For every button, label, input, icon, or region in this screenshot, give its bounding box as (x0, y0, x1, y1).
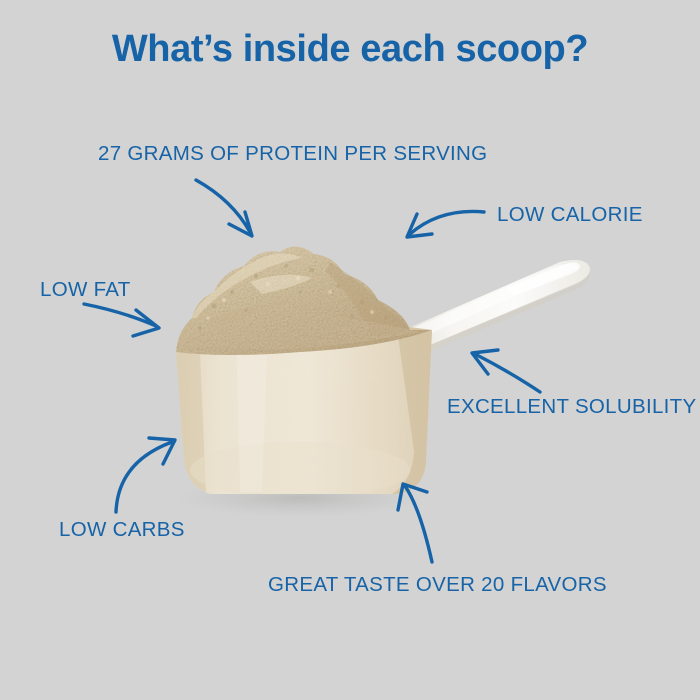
callout-label-low-fat: LOW FAT (40, 278, 131, 302)
callout-label-protein: 27 GRAMS OF PROTEIN PER SERVING (98, 142, 487, 166)
page-title-regular: What’s inside (112, 28, 360, 70)
arrow-excellent-solubility (472, 350, 540, 392)
arrow-great-taste (398, 484, 432, 562)
page-title: What’s inside each scoop? (0, 28, 700, 71)
callout-label-low-calorie: LOW CALORIE (497, 203, 643, 227)
arrow-protein (196, 180, 252, 236)
callout-label-great-taste: GREAT TASTE OVER 20 FLAVORS (268, 573, 607, 597)
callout-label-low-carbs: LOW CARBS (59, 518, 185, 542)
callout-label-excellent-solubility: EXCELLENT SOLUBILITY (447, 395, 696, 419)
page-title-emphasis: each scoop? (360, 28, 588, 70)
arrow-low-carbs (116, 438, 175, 512)
arrow-low-fat (84, 304, 159, 336)
arrow-low-calorie (407, 211, 484, 237)
infographic-canvas: What’s inside each scoop? 27 GRAMS OF PR… (0, 0, 700, 700)
